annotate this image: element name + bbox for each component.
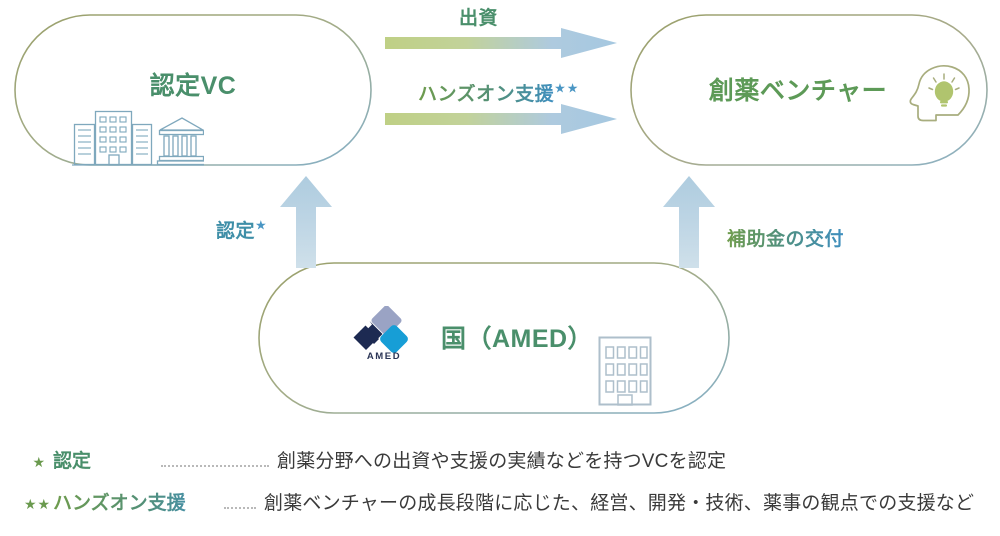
edge-label-certification-stars: ★ [255, 218, 268, 233]
edge-label-subsidy-grant-text: 補助金の交付 [727, 229, 844, 250]
diagram-canvas: 認定VC [0, 0, 1000, 536]
footnote-leader-line [224, 506, 256, 509]
edge-label-hands-on-support-stars: ★★ [554, 81, 579, 96]
edge-label-certification: 認定★ [216, 216, 268, 243]
arrow-hands-on-support [385, 104, 617, 134]
footnote-term: ハンズオン支援 [53, 488, 216, 515]
edge-label-investment: 出資 [459, 3, 498, 30]
footnote-list: ★ 認定 創薬分野への出資や支援の実績などを持つVCを認定 ★★ ハンズオン支援… [24, 446, 984, 530]
footnote-mark: ★★ [24, 496, 46, 513]
node-label-drug-discovery-venture: 創薬ベンチャー [709, 71, 887, 107]
node-label-certified-vc: 認定VC [150, 66, 237, 102]
amed-logo-icon: AMED [352, 306, 416, 362]
footnote-description: 創薬ベンチャーの成長段階に応じた、経営、開発・技術、薬事の観点での支援など [264, 488, 974, 515]
footnote-item-hands-on-support: ★★ ハンズオン支援 創薬ベンチャーの成長段階に応じた、経営、開発・技術、薬事の… [24, 488, 984, 530]
node-government-amed[interactable]: 国（AMED） [258, 262, 730, 414]
head-with-lightbulb-icon [905, 58, 975, 128]
footnote-item-certification: ★ 認定 創薬分野への出資や支援の実績などを持つVCを認定 [24, 446, 984, 488]
edge-label-investment-text: 出資 [459, 8, 498, 29]
edge-label-subsidy-grant: 補助金の交付 [727, 224, 844, 251]
edge-label-hands-on-support-text: ハンズオン支援 [418, 84, 554, 105]
office-buildings-and-bank-icon [72, 104, 204, 166]
edge-label-hands-on-support: ハンズオン支援★★ [418, 79, 579, 106]
edge-label-certification-text: 認定 [216, 221, 255, 242]
amed-logo-text: AMED [367, 351, 401, 362]
government-building-icon [596, 334, 654, 408]
footnote-description: 創薬分野への出資や支援の実績などを持つVCを認定 [277, 446, 726, 473]
footnote-term: 認定 [53, 446, 153, 473]
arrow-investment [385, 28, 617, 58]
footnote-leader-line [161, 464, 269, 467]
arrow-certification [280, 176, 332, 268]
node-label-government-amed: 国（AMED） [441, 319, 593, 355]
arrow-subsidy-grant [663, 176, 715, 268]
footnote-mark: ★ [24, 454, 46, 471]
